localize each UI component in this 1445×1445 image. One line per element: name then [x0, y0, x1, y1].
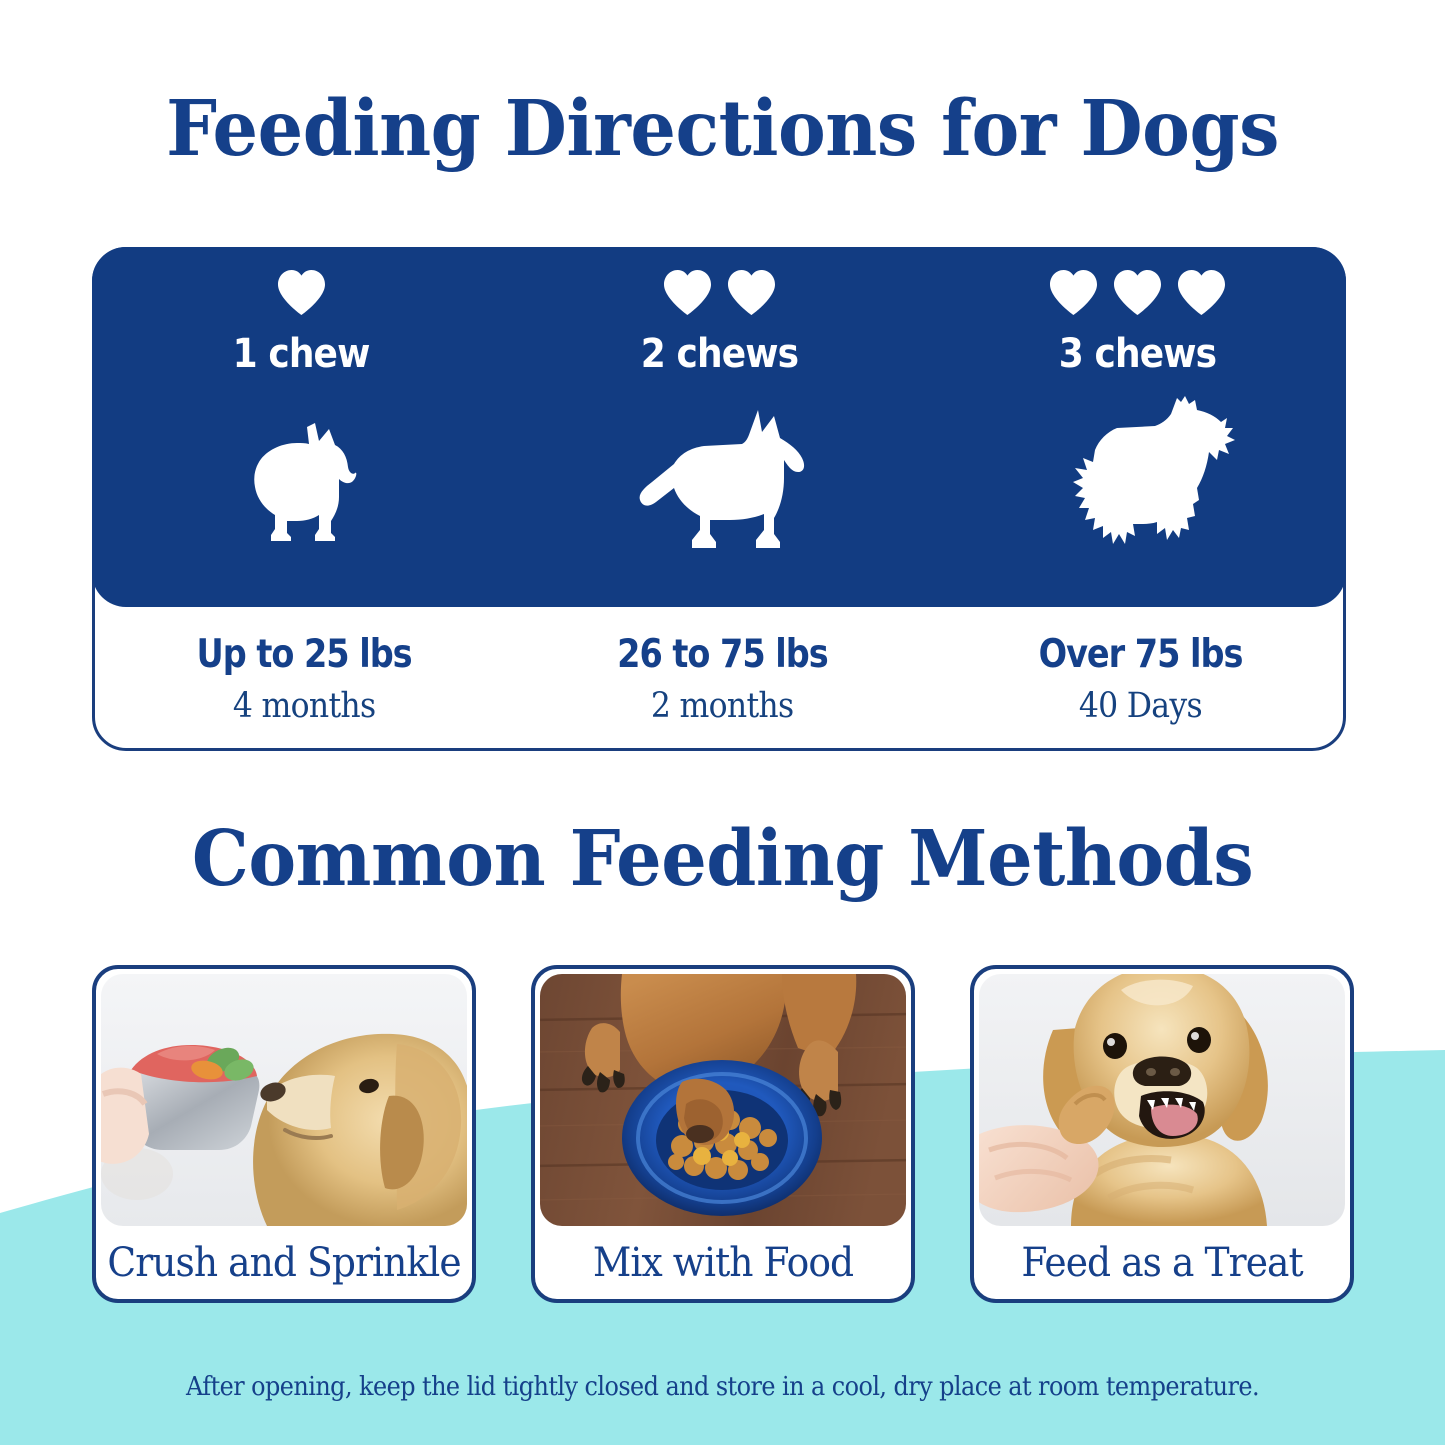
medium-dog-icon-wrap — [632, 389, 806, 569]
large-dog-icon-wrap — [1037, 389, 1237, 569]
feeding-directions-page: Feeding Directions for Dogs 1 chew — [0, 0, 1445, 1445]
hand-feeding-golden-retriever-photo — [979, 974, 1345, 1226]
method-card-feed-as-a-treat[interactable]: Feed as a Treat — [970, 965, 1354, 1303]
heart-icon — [1176, 269, 1227, 316]
chew-count-label: 2 chews — [640, 331, 797, 377]
dog-sniffing-food-bowl-photo — [101, 974, 467, 1226]
chew-count-label: 1 chew — [233, 331, 370, 377]
method-card-crush-and-sprinkle[interactable]: Crush and Sprinkle — [92, 965, 476, 1303]
large-dog-icon — [1037, 396, 1237, 562]
hearts-group-small — [276, 269, 327, 319]
dog-eating-from-blue-bowl-photo — [540, 974, 906, 1226]
storage-instructions-note: After opening, keep the lid tightly clos… — [58, 1372, 1387, 1402]
chew-count-label: 3 chews — [1058, 331, 1215, 377]
method-card-mix-with-food[interactable]: Mix with Food — [531, 965, 915, 1303]
method-label: Mix with Food — [546, 1226, 899, 1299]
feeding-directions-card: 1 chew — [92, 247, 1346, 751]
feeding-methods-row: Crush and Sprinkle — [92, 965, 1354, 1303]
heart-icon — [726, 269, 777, 316]
heart-icon — [662, 269, 713, 316]
hearts-group-large — [1048, 269, 1227, 319]
hearts-group-medium — [662, 269, 777, 319]
medium-dog-icon — [632, 406, 806, 552]
feeding-column-medium: 2 chews — [510, 247, 928, 607]
duration-label: 2 months — [651, 686, 794, 726]
small-dog-icon — [243, 415, 359, 543]
method-label: Crush and Sprinkle — [107, 1226, 460, 1299]
duration-label: 4 months — [233, 686, 376, 726]
feeding-blue-panel: 1 chew — [92, 247, 1346, 607]
heart-icon — [1048, 269, 1099, 316]
methods-section-title: Common Feeding Methods — [51, 814, 1395, 904]
weight-range-label: Up to 25 lbs — [196, 632, 411, 677]
method-label: Feed as a Treat — [985, 1226, 1338, 1299]
duration-label: 40 Days — [1078, 686, 1201, 726]
weight-column-large: Over 75 lbs 40 Days — [931, 610, 1349, 751]
heart-icon — [276, 269, 327, 316]
small-dog-icon-wrap — [243, 389, 359, 569]
feeding-column-small: 1 chew — [92, 247, 510, 607]
feeding-column-large: 3 chews — [928, 247, 1346, 607]
weight-column-small: Up to 25 lbs 4 months — [95, 610, 513, 751]
heart-icon — [1112, 269, 1163, 316]
page-title: Feeding Directions for Dogs — [51, 84, 1395, 174]
weight-range-label: Over 75 lbs — [1038, 632, 1242, 677]
weight-duration-row: Up to 25 lbs 4 months 26 to 75 lbs 2 mon… — [95, 610, 1349, 751]
weight-column-medium: 26 to 75 lbs 2 months — [513, 610, 931, 751]
weight-range-label: 26 to 75 lbs — [617, 632, 828, 677]
